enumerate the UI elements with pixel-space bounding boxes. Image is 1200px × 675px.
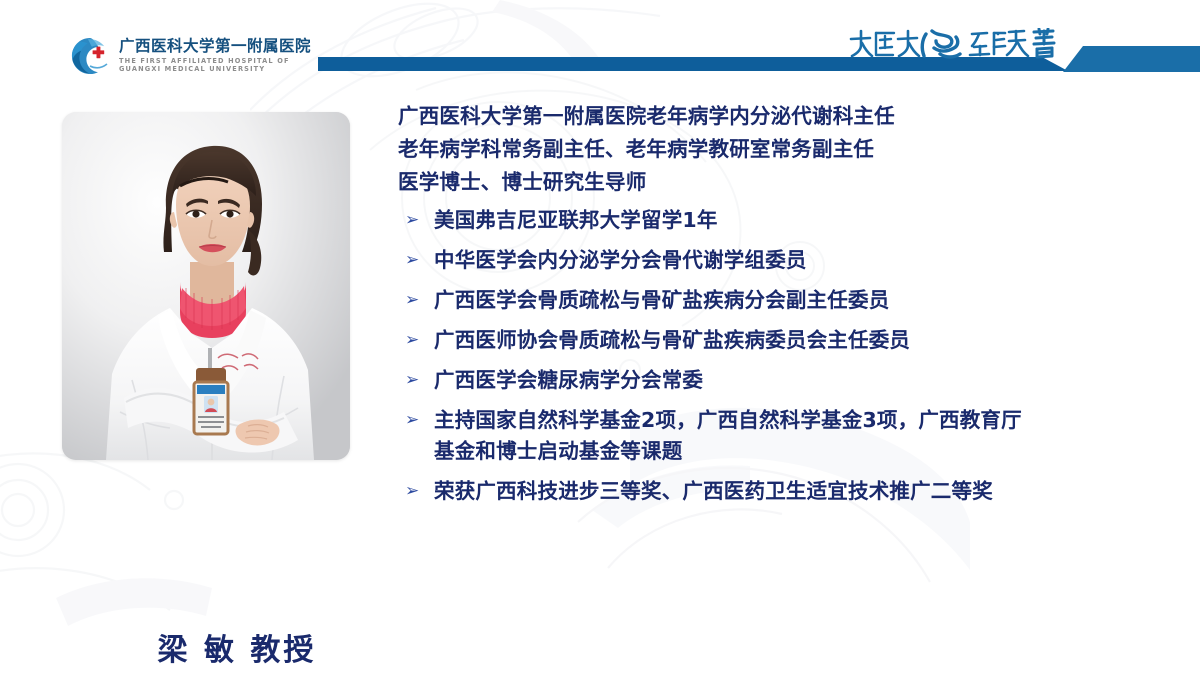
arrow-bullet-icon: ➢: [398, 325, 434, 356]
arrow-bullet-icon: ➢: [398, 365, 434, 396]
list-item-text: 荣获广西科技进步三等奖、广西医药卫生适宜技术推广二等奖: [434, 479, 993, 503]
list-item: ➢ 广西医师协会骨质疏松与骨矿盐疾病委员会主任委员: [398, 325, 1168, 356]
list-item-text: 广西医学会糖尿病学分会常委: [434, 368, 703, 392]
list-item: ➢ 广西医学会骨质疏松与骨矿盐疾病分会副主任委员: [398, 285, 1168, 316]
list-item-text: 广西医学会骨质疏松与骨矿盐疾病分会副主任委员: [434, 288, 889, 312]
arrow-bullet-icon: ➢: [398, 405, 434, 436]
list-item-text: 主持国家自然科学基金2项，广西自然科学基金3项，广西教育厅: [434, 405, 1022, 436]
arrow-bullet-icon: ➢: [398, 476, 434, 507]
slide-header: 广西医科大学第一附属医院 THE FIRST AFFILIATED HOSPIT…: [0, 0, 1200, 92]
title-line-2: 老年病学科常务副主任、老年病学教研室常务副主任: [398, 133, 1168, 166]
list-item: ➢ 广西医学会糖尿病学分会常委: [398, 365, 1168, 396]
logo-name-en-line1: THE FIRST AFFILIATED HOSPITAL OF: [119, 58, 311, 65]
profile-photo: [62, 112, 350, 460]
title-line-1: 广西医科大学第一附属医院老年病学内分泌代谢科主任: [398, 100, 1168, 133]
list-item-text-continued: 基金和博士启动基金等课题: [434, 436, 1022, 467]
logo-name-en-line2: GUANGXI MEDICAL UNIVERSITY: [119, 66, 311, 73]
header-blue-bar-right-segment: [1063, 46, 1200, 72]
slide-footer: http://www.gxmuyfy.cn/: [0, 600, 1200, 675]
list-item: ➢ 美国弗吉尼亚联邦大学留学1年: [398, 205, 1168, 236]
profile-photo-reflection: [68, 461, 344, 515]
logo-text-block: 广西医科大学第一附属医院 THE FIRST AFFILIATED HOSPIT…: [119, 39, 311, 73]
list-item: ➢ 中华医学会内分泌学分会骨代谢学组委员: [398, 245, 1168, 276]
list-item: ➢ 荣获广西科技进步三等奖、广西医药卫生适宜技术推广二等奖: [398, 476, 1168, 507]
list-item: ➢ 主持国家自然科学基金2项，广西自然科学基金3项，广西教育厅 基金和博士启动基…: [398, 405, 1168, 467]
profile-photo-block: 梁 敏 教授: [62, 112, 350, 512]
credential-list: ➢ 美国弗吉尼亚联邦大学留学1年 ➢ 中华医学会内分泌学分会骨代谢学组委员 ➢ …: [398, 205, 1168, 507]
logo-name-cn: 广西医科大学第一附属医院: [119, 39, 311, 55]
list-item-text: 中华医学会内分泌学分会骨代谢学组委员: [434, 248, 807, 272]
hospital-slogan: [848, 28, 1063, 62]
list-item-text: 美国弗吉尼亚联邦大学留学1年: [434, 208, 718, 232]
title-line-3: 医学博士、博士研究生导师: [398, 166, 1168, 199]
hospital-logo: 广西医科大学第一附属医院 THE FIRST AFFILIATED HOSPIT…: [70, 36, 311, 76]
arrow-bullet-icon: ➢: [398, 245, 434, 276]
arrow-bullet-icon: ➢: [398, 285, 434, 316]
list-item-text: 广西医师协会骨质疏松与骨矿盐疾病委员会主任委员: [434, 328, 910, 352]
arrow-bullet-icon: ➢: [398, 205, 434, 236]
hospital-swirl-cross-logo-icon: [70, 36, 110, 76]
slide-canvas: 广西医科大学第一附属医院 THE FIRST AFFILIATED HOSPIT…: [0, 0, 1200, 675]
profile-credentials: 广西医科大学第一附属医院老年病学内分泌代谢科主任 老年病学科常务副主任、老年病学…: [398, 100, 1168, 516]
